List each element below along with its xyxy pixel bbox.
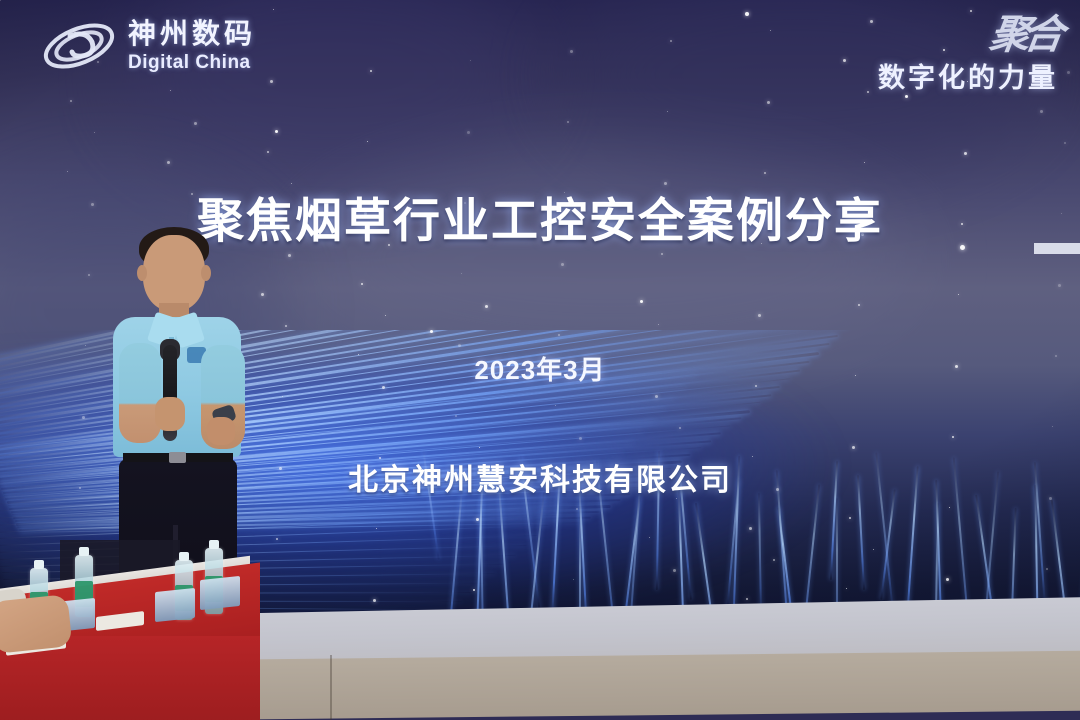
brand-calligraphy: 聚合 <box>987 16 1060 54</box>
presenter-head <box>143 235 205 311</box>
bottle-cap <box>179 552 189 561</box>
presenter-hand-holding-clicker <box>207 417 235 445</box>
bottle-cap <box>79 547 89 556</box>
belt-buckle <box>169 452 186 463</box>
digital-china-logo: 神州数码 Digital China <box>40 14 256 78</box>
screen-edge-bar <box>1034 243 1080 254</box>
presenter-arm-left <box>119 343 161 443</box>
logo-name-en: Digital China <box>128 53 256 72</box>
guest-arm <box>0 594 73 654</box>
name-card <box>200 576 240 610</box>
presenter-hand-holding-mic <box>155 397 185 431</box>
bottle-cap <box>209 540 219 549</box>
conference-stage-photo: 神州数码 Digital China 聚合 数字化的力量 聚焦烟草行业工控安全案… <box>0 0 1080 720</box>
brand-tagline: 数字化的力量 <box>878 56 1058 95</box>
presenter-ear <box>137 265 147 281</box>
bottle-cap <box>34 560 44 569</box>
logo-name-cn: 神州数码 <box>128 20 256 48</box>
floor-seam <box>330 655 332 720</box>
swirl-galaxy-icon <box>40 14 118 78</box>
name-card <box>155 588 195 622</box>
event-brand-lockup: 聚合 数字化的力量 <box>878 16 1058 95</box>
presenter-ear <box>201 265 211 281</box>
